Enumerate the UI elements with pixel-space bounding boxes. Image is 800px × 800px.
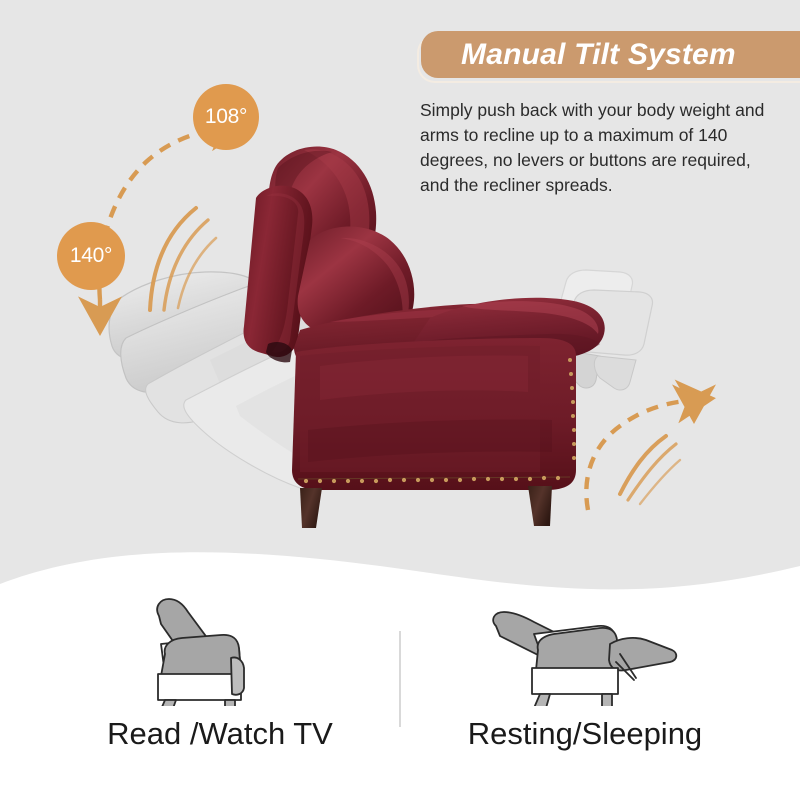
upright-chair-icon	[55, 588, 385, 706]
angle-badge-140: 140°	[57, 222, 125, 290]
feature-resting-sleeping: Resting/Sleeping	[420, 588, 750, 754]
feature-label-read-watch-tv: Read /Watch TV	[55, 714, 385, 754]
feature-divider	[399, 631, 401, 727]
description-text: Simply push back with your body weight a…	[420, 98, 780, 198]
infographic-canvas: 108° 140° Manual Tilt System Simply push…	[0, 0, 800, 800]
title-banner-fill: Manual Tilt System	[421, 31, 800, 78]
reclined-chair-icon	[420, 588, 750, 706]
title-banner: Manual Tilt System	[417, 31, 800, 83]
page-title: Manual Tilt System	[461, 31, 800, 78]
feature-label-resting-sleeping: Resting/Sleeping	[420, 714, 750, 754]
angle-badge-108: 108°	[193, 84, 259, 150]
feature-read-watch-tv: Read /Watch TV	[55, 588, 385, 754]
